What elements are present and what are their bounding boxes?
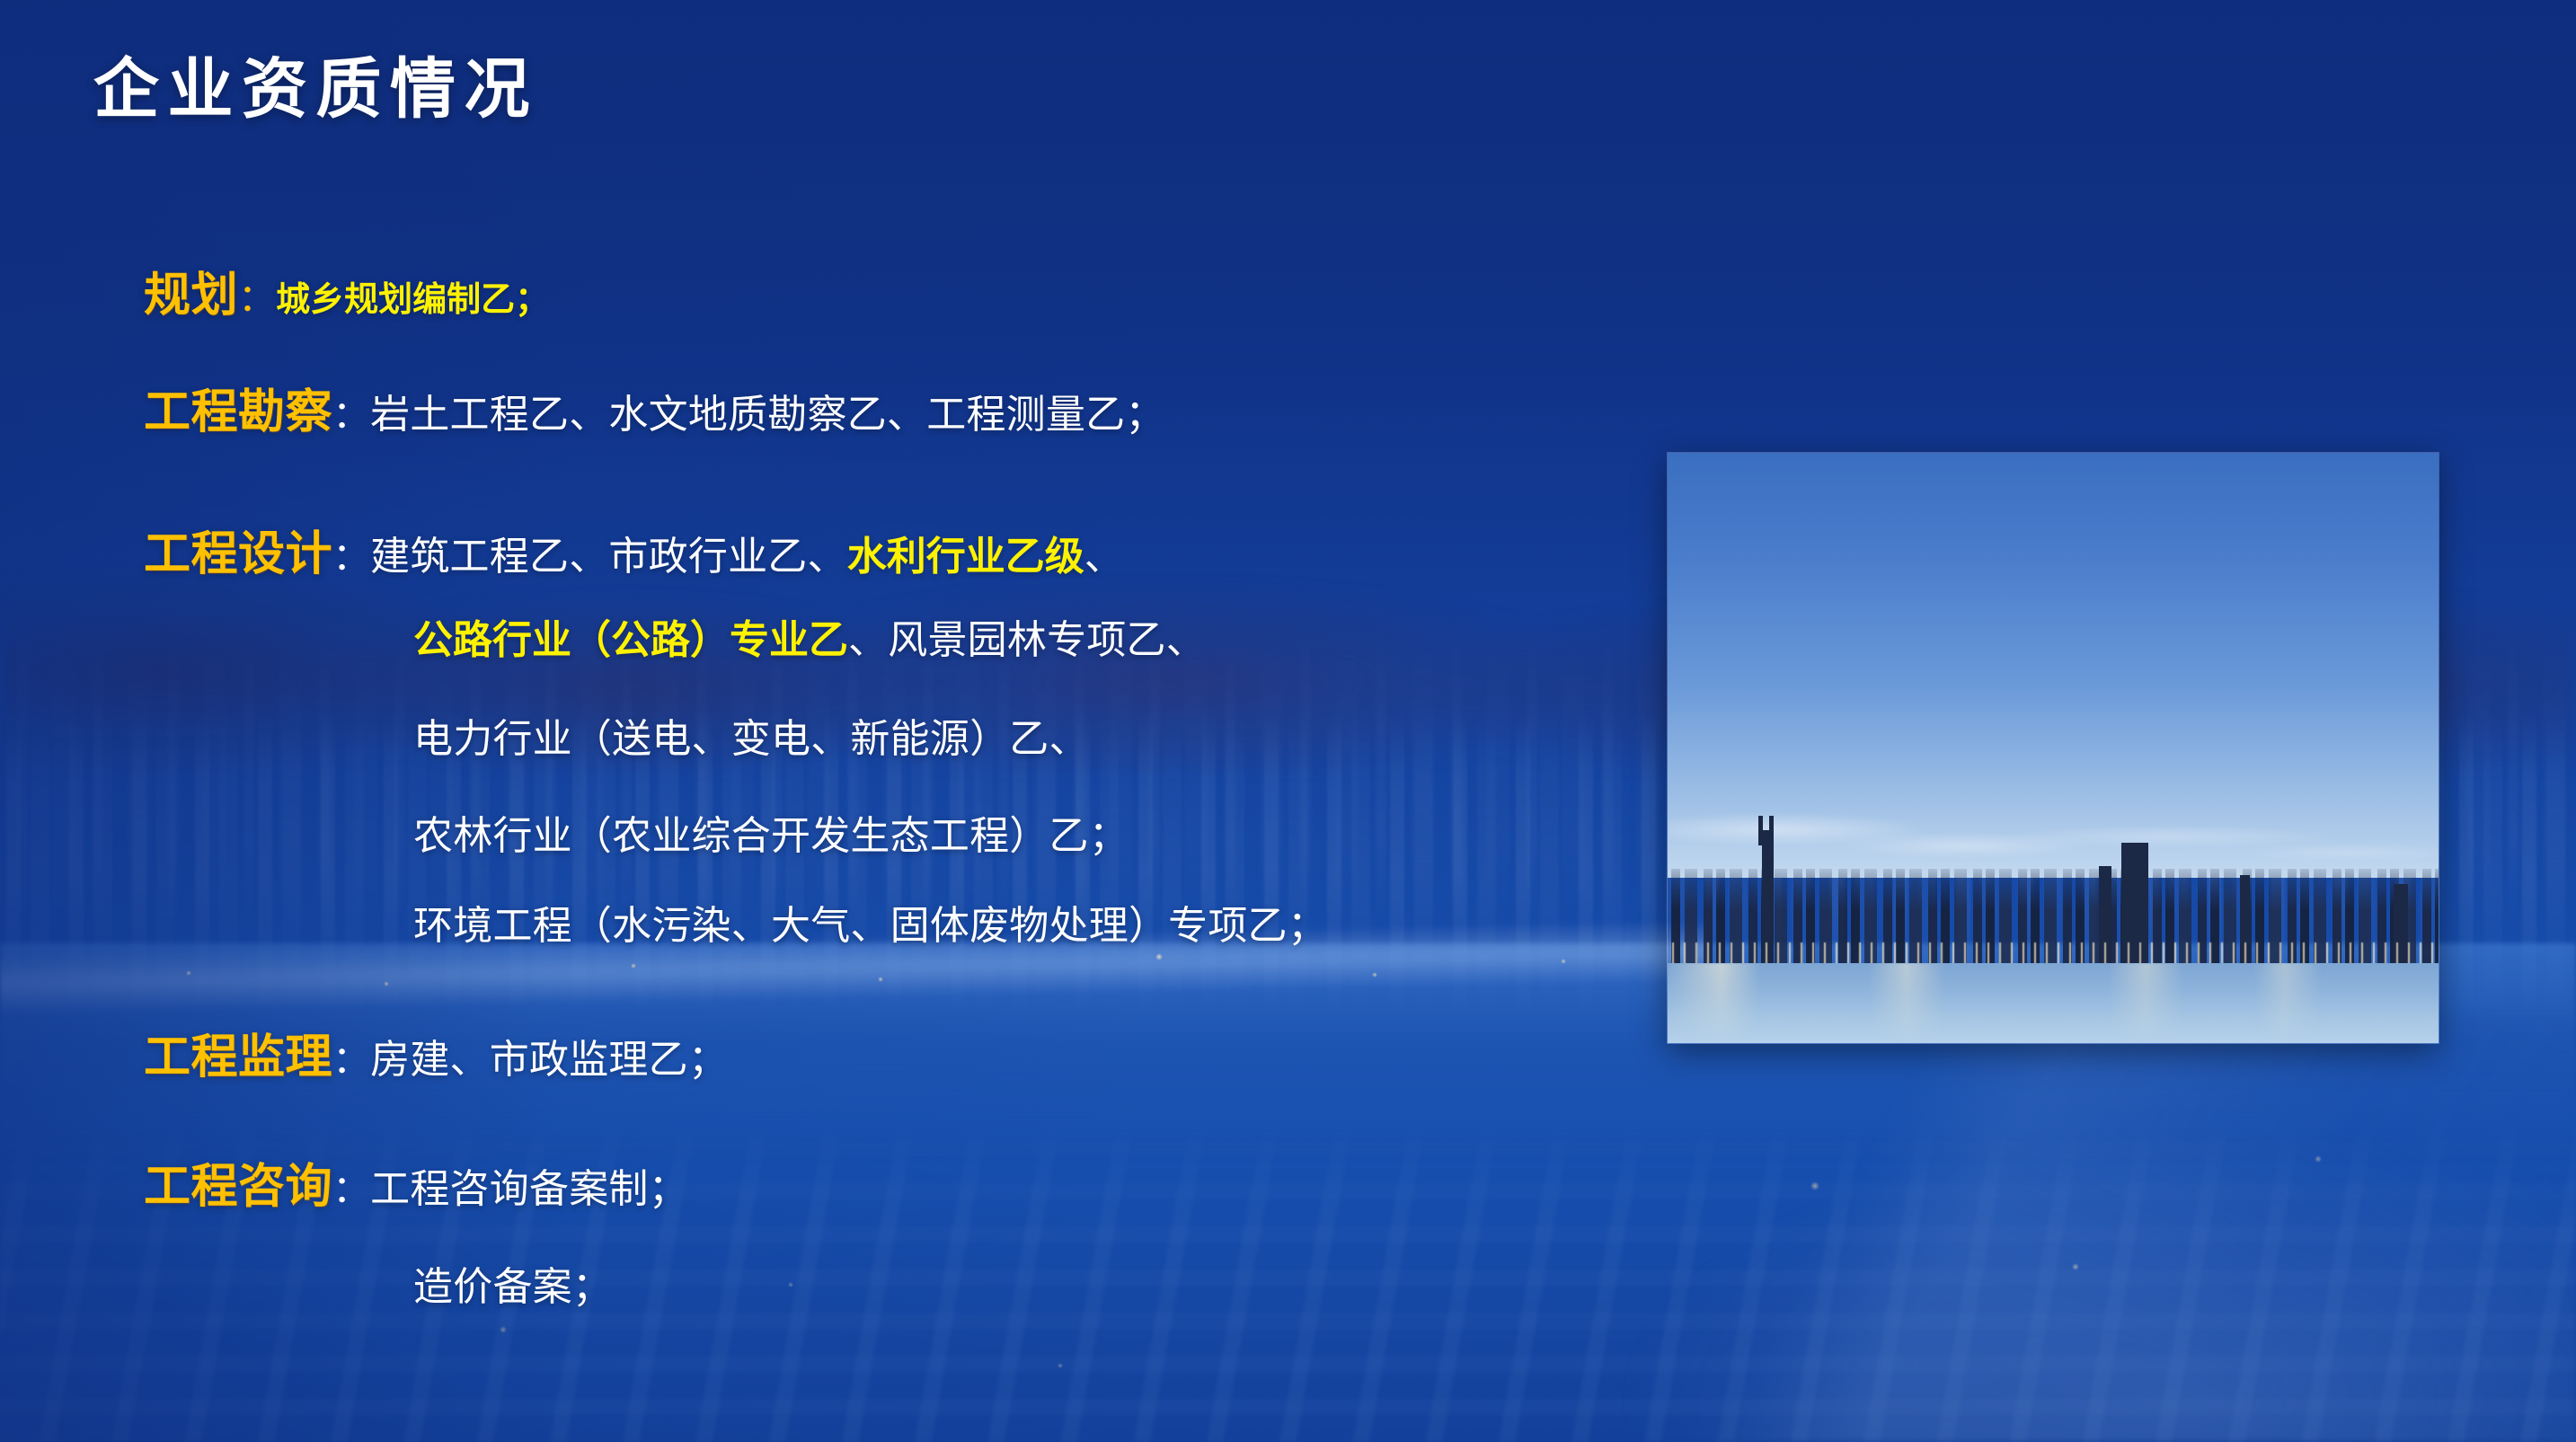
qualification-value-design-line2a: 公路行业（公路）专业乙 — [413, 618, 848, 662]
qualification-row-design-line4: 农林行业（农业综合开发生态工程）乙； — [413, 803, 1129, 861]
qualification-value-design-line2b: 、风景园林专项乙、 — [848, 618, 1206, 662]
qualification-label-survey: 工程勘察 — [144, 386, 332, 438]
qualification-colon-consulting: ： — [332, 1168, 370, 1210]
qualification-colon-survey: ： — [332, 394, 370, 436]
qualification-label-planning: 规划 — [144, 270, 238, 322]
qualification-value-consulting: 工程咨询备案制； — [370, 1167, 688, 1211]
qualification-row-consulting: 工程咨询：工程咨询备案制； — [144, 1148, 688, 1216]
qualification-value-design-line3: 电力行业（送电、变电、新能源）乙、 — [413, 717, 1089, 761]
qualification-row-supervision: 工程监理：房建、市政监理乙； — [144, 1019, 728, 1086]
qualification-label-design: 工程设计 — [144, 528, 332, 580]
qualification-value-design-line1b: 水利行业乙级 — [847, 535, 1084, 579]
qualification-value-consulting-line2: 造价备案； — [413, 1265, 612, 1309]
photo-tower-antenna-left — [1758, 816, 1763, 845]
qualification-colon-planning: ： — [238, 277, 276, 319]
qualification-value-supervision: 房建、市政监理乙； — [370, 1038, 728, 1082]
qualification-row-survey: 工程勘察：岩土工程乙、水文地质勘察乙、工程测量乙； — [144, 374, 1165, 441]
qualification-label-consulting: 工程咨询 — [144, 1161, 332, 1213]
qualification-value-survey: 岩土工程乙、水文地质勘察乙、工程测量乙； — [370, 393, 1164, 437]
qualification-value-design-line1a: 建筑工程乙、市政行业乙、 — [370, 535, 847, 579]
city-skyline-photo — [1667, 452, 2439, 1044]
qualification-value-design-line5: 环境工程（水污染、大气、固体废物处理）专项乙； — [413, 904, 1327, 948]
qualification-colon-supervision: ： — [332, 1039, 370, 1081]
qualification-row-planning: 规划：城乡规划编制乙； — [144, 257, 549, 324]
qualification-row-design: 工程设计：建筑工程乙、市政行业乙、水利行业乙级、 — [144, 516, 1124, 583]
photo-water-reflections — [1668, 963, 2439, 1043]
qualification-value-planning: 城乡规划编制乙； — [276, 281, 549, 319]
qualification-row-consulting-line2: 造价备案； — [413, 1254, 612, 1312]
qualification-row-design-line2: 公路行业（公路）专业乙、风景园林专项乙、 — [413, 607, 1206, 665]
qualification-value-design-line1c: 、 — [1084, 535, 1124, 579]
qualification-label-supervision: 工程监理 — [144, 1031, 332, 1084]
qualification-row-design-line5: 环境工程（水污染、大气、固体废物处理）专项乙； — [413, 893, 1327, 951]
qualification-row-design-line3: 电力行业（送电、变电、新能源）乙、 — [413, 706, 1089, 764]
qualification-value-design-line4: 农林行业（农业综合开发生态工程）乙； — [413, 814, 1129, 858]
qualification-colon-design: ： — [332, 535, 370, 578]
photo-tower-antenna-left2 — [1769, 816, 1774, 845]
page-title: 企业资质情况 — [93, 56, 538, 125]
slide: 企业资质情况 规划：城乡规划编制乙； 工程勘察：岩土工程乙、水文地质勘察乙、工程… — [0, 0, 2576, 1442]
